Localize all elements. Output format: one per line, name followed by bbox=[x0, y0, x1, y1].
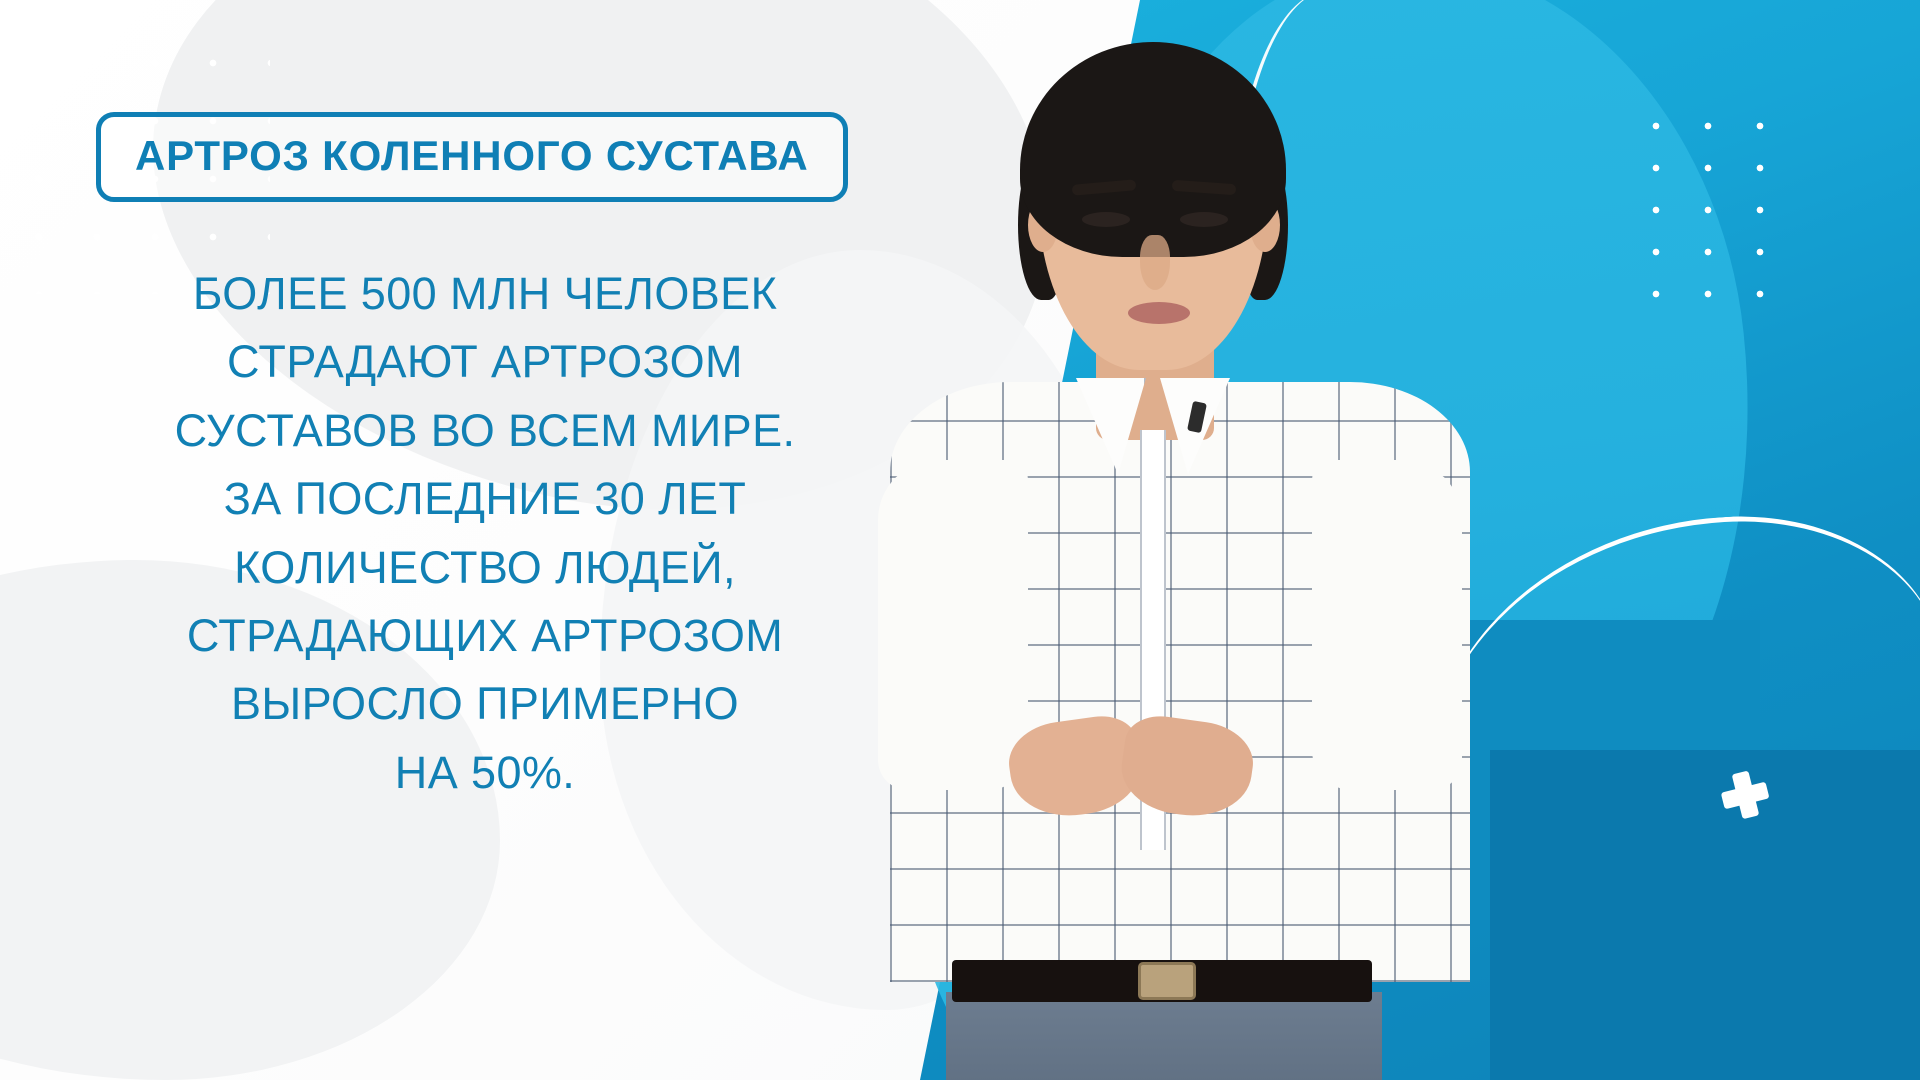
body-line: СТРАДАЮТ АРТРОЗОМ bbox=[60, 328, 910, 396]
presenter-belt-buckle bbox=[1138, 962, 1196, 1000]
presenter bbox=[860, 30, 1520, 1080]
body-line: СУСТАВОВ ВО ВСЕМ МИРЕ. bbox=[60, 397, 910, 465]
page-title: АРТРОЗ КОЛЕННОГО СУСТАВА bbox=[96, 112, 848, 202]
presenter-eye-right bbox=[1180, 212, 1228, 227]
body-line: КОЛИЧЕСТВО ЛЮДЕЙ, bbox=[60, 534, 910, 602]
presenter-eye-left bbox=[1082, 212, 1130, 227]
body-line: НА 50%. bbox=[60, 739, 910, 807]
presenter-hair bbox=[1020, 42, 1286, 257]
presenter-nose bbox=[1140, 235, 1170, 290]
body-line: БОЛЕЕ 500 МЛН ЧЕЛОВЕК bbox=[60, 260, 910, 328]
presenter-mouth bbox=[1128, 302, 1190, 324]
background-dark-rectangle bbox=[1490, 750, 1920, 1080]
presenter-jeans bbox=[946, 992, 1382, 1080]
body-copy: БОЛЕЕ 500 МЛН ЧЕЛОВЕК СТРАДАЮТ АРТРОЗОМ … bbox=[60, 260, 910, 807]
body-line: СТРАДАЮЩИХ АРТРОЗОМ bbox=[60, 602, 910, 670]
body-line: ВЫРОСЛО ПРИМЕРНО bbox=[60, 670, 910, 738]
page-title-text: АРТРОЗ КОЛЕННОГО СУСТАВА bbox=[135, 135, 809, 177]
body-line: ЗА ПОСЛЕДНИЕ 30 ЛЕТ bbox=[60, 465, 910, 533]
dot-grid-icon bbox=[1630, 105, 1800, 320]
presenter-arm-right bbox=[1312, 460, 1462, 790]
slide-canvas: АРТРОЗ КОЛЕННОГО СУСТАВА БОЛЕЕ 500 МЛН Ч… bbox=[0, 0, 1920, 1080]
